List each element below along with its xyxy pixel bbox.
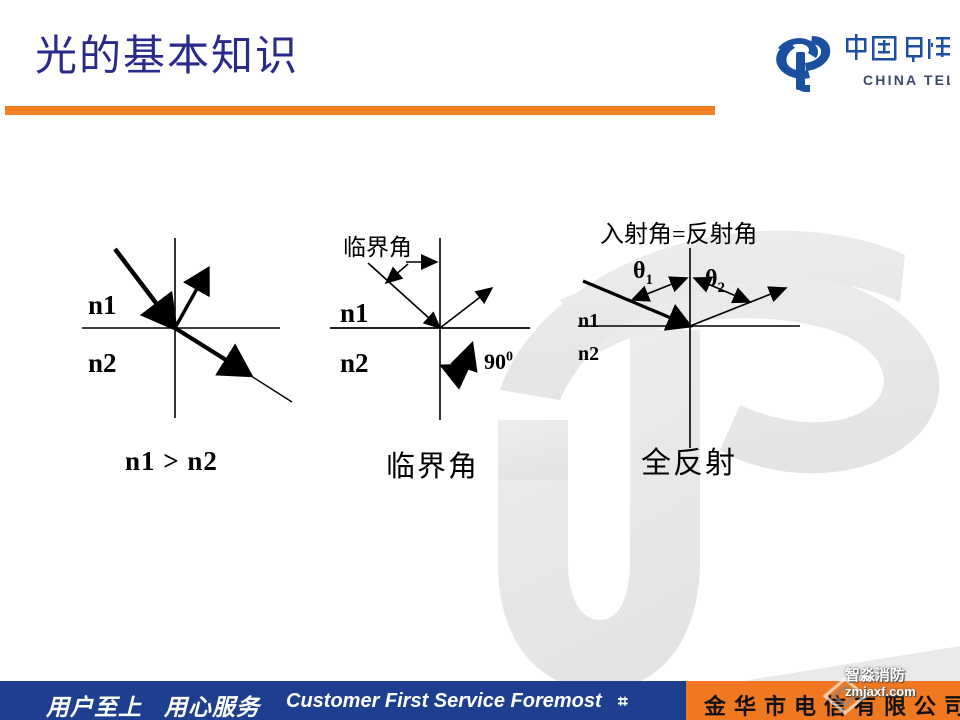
footer-ornament-icon: ⌗: [618, 692, 628, 712]
diagram-total-reflection: [578, 248, 800, 448]
diagram-critical-angle: [330, 238, 530, 420]
diagram1-label-n1: n1: [88, 290, 117, 321]
svg-text:CHINA TELECOM: CHINA TELECOM: [863, 72, 950, 88]
company-char: 华: [730, 689, 760, 720]
theta1-symbol: θ: [633, 258, 646, 284]
diagram3-heading: 入射角=反射角: [600, 214, 758, 249]
diagram3-label-n2: n2: [578, 343, 599, 366]
theta2-subscript: 2: [718, 280, 726, 296]
footer-slogan-chinese: 用户至上用心服务: [46, 688, 260, 720]
company-char: 司: [940, 689, 960, 720]
theta1-subscript: 1: [646, 272, 654, 288]
diagram1-label-n2: n2: [88, 348, 117, 379]
diagram3-theta1-label: θ1: [633, 258, 653, 289]
company-char: 市: [760, 689, 790, 720]
slide-canvas: 光的基本知识: [0, 0, 960, 720]
angle-value: 90: [484, 349, 506, 374]
footer-company-name: 金华市电信有限公司: [700, 689, 960, 720]
company-char: 公: [910, 689, 940, 720]
diagram3-caption: 全反射: [641, 438, 737, 482]
diagram3-theta2-label: θ2: [705, 266, 725, 297]
diagram2-annotation-critical-angle: 临界角: [343, 228, 412, 262]
diagram-refraction: [82, 238, 292, 418]
diagram2-label-n2: n2: [340, 348, 369, 379]
diagram2-angle-90-label: 900: [484, 349, 513, 375]
company-char: 限: [880, 689, 910, 720]
footer-diagonal-accent: [600, 646, 960, 682]
footer-slogan-english: Customer First Service Foremost: [286, 690, 602, 713]
company-char: 信: [820, 689, 850, 720]
title-underline-rule: [5, 106, 715, 115]
diagram2-caption: 临界角: [386, 443, 479, 485]
angle-degree-superscript: 0: [506, 350, 513, 365]
page-title: 光的基本知识: [35, 28, 299, 86]
china-telecom-logo: CHINA TELECOM: [760, 22, 950, 100]
diagram2-label-n1: n1: [340, 298, 369, 329]
footer-slogan-part-b: 用心服务: [164, 695, 260, 720]
footer-slogan-part-a: 用户至上: [46, 695, 142, 720]
company-char: 电: [790, 689, 820, 720]
theta2-symbol: θ: [705, 266, 718, 292]
diagram1-caption: n1 > n2: [125, 446, 218, 477]
diagram3-label-n1: n1: [578, 310, 599, 333]
company-char: 有: [850, 689, 880, 720]
company-char: 金: [700, 689, 730, 720]
